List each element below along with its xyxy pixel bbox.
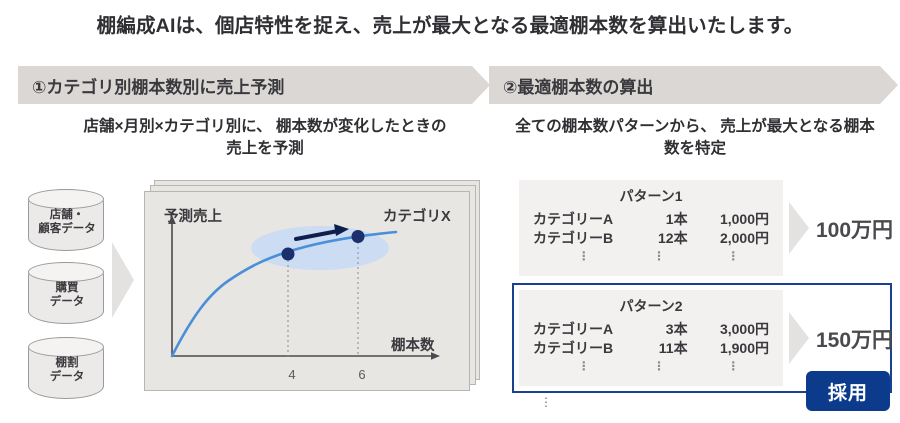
section-banner-2: ②最適棚本数の算出 <box>489 66 880 104</box>
pattern-card-1[interactable]: パターン1 カテゴリーA 1本 1,000円 カテゴリーB 12本 2,000円… <box>519 180 783 276</box>
pattern-row-amount: 2,000円 <box>696 229 769 248</box>
data-source-label: 店舗・ 顧客データ <box>29 208 105 237</box>
adopt-badge[interactable]: 採用 <box>806 371 890 411</box>
section-banner-1-label: ①カテゴリ別棚本数別に売上予測 <box>32 73 284 98</box>
pattern-row: カテゴリーB 11本 1,900円 <box>533 339 769 358</box>
section-banner-1: ①カテゴリ別棚本数別に売上予測 <box>18 66 472 104</box>
pattern-title: パターン1 <box>519 186 783 206</box>
pattern-card-2[interactable]: パターン2 カテゴリーA 3本 3,000円 カテゴリーB 11本 1,900円… <box>519 290 783 386</box>
pattern-result-amount-2: 150万円 <box>816 324 893 354</box>
section-2-caption: 全ての棚本数パターンから、 売上が最大となる棚本数を特定 <box>510 116 880 161</box>
data-source-label: 棚割 データ <box>29 356 105 385</box>
pattern-row-ellipsis: ⋮ ⋮ ⋮ <box>533 358 769 374</box>
more-patterns-indicator: ⋮ <box>540 396 552 408</box>
pattern-row-category: カテゴリーB <box>533 339 637 358</box>
pattern-row-category: カテゴリーA <box>533 320 637 339</box>
chart-marker-point-6 <box>352 230 365 243</box>
section-banner-2-label: ②最適棚本数の算出 <box>503 73 653 98</box>
pattern-row-category: カテゴリーB <box>533 229 637 248</box>
page-title: 棚編成AIは、個店特性を捉え、売上が最大となる最適棚本数を算出いたします。 <box>0 9 900 38</box>
data-source-cylinder-planogram: 棚割 データ <box>28 337 104 399</box>
chart-x-tick-6: 6 <box>352 367 372 382</box>
pattern-row: カテゴリーB 12本 2,000円 <box>533 229 769 248</box>
slide-root: 棚編成AIは、個店特性を捉え、売上が最大となる最適棚本数を算出いたします。 ①カ… <box>0 0 900 423</box>
pattern-row-amount: 1,000円 <box>696 210 769 229</box>
pattern-row-category: カテゴリーA <box>533 210 637 229</box>
chart-x-axis-arrowhead-icon <box>431 352 440 360</box>
pattern-row-ellipsis: ⋮ ⋮ ⋮ <box>533 248 769 264</box>
pattern-row-quantity: 3本 <box>637 320 695 339</box>
pattern-result-arrow-icon-2 <box>789 312 809 364</box>
pattern-row-category: ⋮ <box>533 358 635 374</box>
chart-plot-area <box>144 191 470 391</box>
pattern-title: パターン2 <box>519 296 783 316</box>
pattern-row: カテゴリーA 3本 3,000円 <box>533 320 769 339</box>
data-source-cylinder-store-customer: 店舗・ 顧客データ <box>28 189 104 251</box>
pattern-rows: カテゴリーA 1本 1,000円 カテゴリーB 12本 2,000円 ⋮ ⋮ ⋮ <box>533 210 769 264</box>
pattern-row: カテゴリーA 1本 1,000円 <box>533 210 769 229</box>
pattern-row-category: ⋮ <box>533 248 635 264</box>
pattern-row-quantity: 11本 <box>637 339 695 358</box>
pattern-result-arrow-icon-1 <box>789 202 809 254</box>
data-feed-arrow-icon <box>112 242 134 318</box>
pattern-row-amount: 3,000円 <box>696 320 769 339</box>
data-source-cylinder-purchase: 購買 データ <box>28 262 104 324</box>
data-source-label: 購買 データ <box>29 281 105 310</box>
banner-chevron-lead-icon <box>466 66 484 104</box>
pattern-row-quantity: 1本 <box>637 210 695 229</box>
pattern-row-quantity: ⋮ <box>635 358 698 374</box>
chart-y-axis-arrowhead-icon <box>168 215 176 224</box>
section-1-caption: 店舗×月別×カテゴリ別に、 棚本数が変化したときの売上を予測 <box>80 116 450 161</box>
chart-marker-point-4 <box>282 248 295 261</box>
pattern-row-quantity: ⋮ <box>635 248 698 264</box>
pattern-result-amount-1: 100万円 <box>816 214 893 244</box>
pattern-rows: カテゴリーA 3本 3,000円 カテゴリーB 11本 1,900円 ⋮ ⋮ ⋮ <box>533 320 769 374</box>
chart-x-tick-4: 4 <box>282 367 302 382</box>
pattern-row-quantity: 12本 <box>637 229 695 248</box>
pattern-row-amount: ⋮ <box>698 248 769 264</box>
pattern-row-amount: ⋮ <box>698 358 769 374</box>
pattern-row-amount: 1,900円 <box>696 339 769 358</box>
